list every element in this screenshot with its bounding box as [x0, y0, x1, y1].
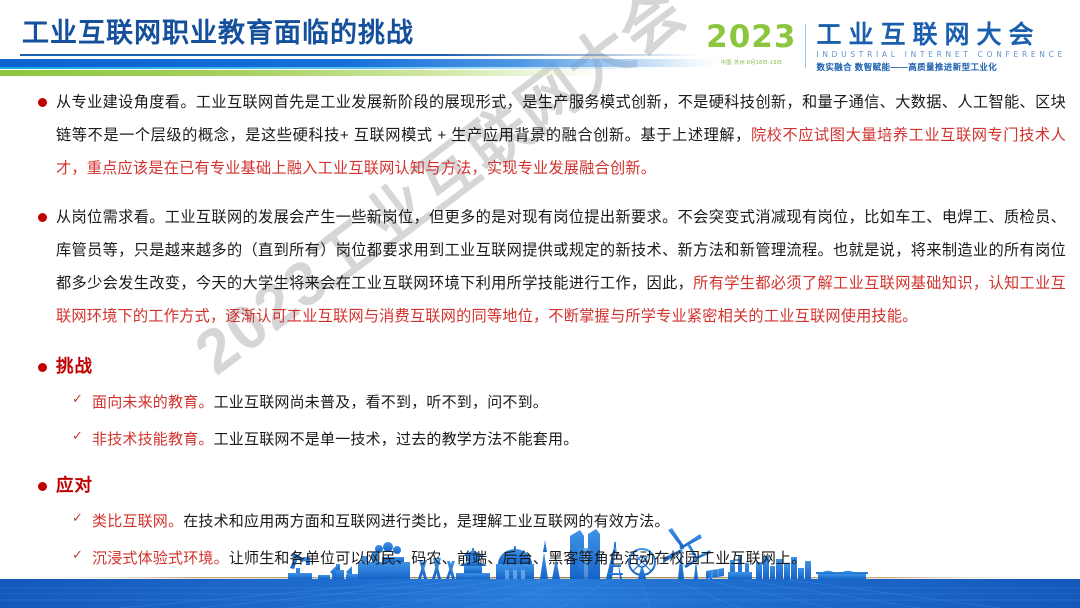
title-underline — [20, 54, 700, 56]
bullet-paragraph: 从专业建设角度看。工业互联网首先是工业发展新阶段的展现形式，是生产服务模式创新，… — [0, 86, 1080, 185]
header-divider-blue — [0, 59, 720, 67]
page-title: 工业互联网职业教育面临的挑战 — [22, 11, 414, 50]
logo-year-block: 2023 中国·苏州 8月18日-19日 — [706, 22, 805, 66]
list-item-rest: 工业互联网尚未普及，看不到，听不到，问不到。 — [214, 394, 548, 411]
section-heading-label: 应对 — [56, 475, 93, 495]
header-divider-cyan — [0, 67, 660, 69]
bullet-dot-icon — [38, 98, 47, 107]
bullet-dot-icon — [38, 482, 47, 491]
check-icon: ✓ — [72, 392, 83, 407]
bullet-dot-icon — [38, 213, 47, 222]
list-item-text: 非技术技能教育。工业互联网不是单一技术，过去的教学方法不能套用。 — [92, 431, 578, 448]
section-heading-label: 挑战 — [56, 356, 93, 376]
list-item-rest: 让师生和各单位可以网民、码农、前端、后台、黑客等角色活动在校园工业互联网上。 — [229, 550, 807, 567]
section-heading-responses: 应对 — [0, 472, 1080, 497]
check-icon: ✓ — [72, 511, 83, 526]
check-icon: ✓ — [72, 548, 83, 563]
list-item-lead: 非技术技能教育。 — [92, 431, 214, 448]
section-list-item: ✓ 类比互联网。在技术和应用两方面和互联网进行类比，是理解工业互联网的有效方法。 — [0, 510, 1080, 534]
list-item-text: 面向未来的教育。工业互联网尚未普及，看不到，听不到，问不到。 — [92, 394, 548, 411]
paragraph-text: 从岗位需求看。工业互联网的发展会产生一些新岗位，但更多的是对现有岗位提出新要求。… — [56, 201, 1066, 333]
header-divider-green — [0, 70, 600, 76]
logo-slogan: 数实融合 数智赋能——高质量推进新型工业化 — [816, 61, 1066, 73]
check-icon: ✓ — [72, 429, 83, 444]
slide-header: 工业互联网职业教育面临的挑战 2023 中国·苏州 8月18日-19日 工业互联… — [0, 0, 1080, 80]
logo-year: 2023 — [706, 22, 796, 53]
logo-name-en: INDUSTRIAL INTERNET CONFERENCE — [816, 50, 1066, 59]
list-item-text: 类比互联网。在技术和应用两方面和互联网进行类比，是理解工业互联网的有效方法。 — [92, 513, 670, 530]
section-list-item: ✓ 非技术技能教育。工业互联网不是单一技术，过去的教学方法不能套用。 — [0, 428, 1080, 452]
list-item-rest: 工业互联网不是单一技术，过去的教学方法不能套用。 — [214, 431, 579, 448]
logo-name-cn: 工业互联网大会 — [816, 22, 1066, 48]
logo-place-date: 中国·苏州 8月18日-19日 — [720, 58, 782, 66]
bullet-dot-icon — [38, 363, 47, 372]
paragraph-text: 从专业建设角度看。工业互联网首先是工业发展新阶段的展现形式，是生产服务模式创新，… — [56, 86, 1066, 185]
list-item-rest: 在技术和应用两方面和互联网进行类比，是理解工业互联网的有效方法。 — [183, 513, 669, 530]
logo-name-block: 工业互联网大会 INDUSTRIAL INTERNET CONFERENCE 数… — [806, 22, 1066, 73]
slide-body: 从专业建设角度看。工业互联网首先是工业发展新阶段的展现形式，是生产服务模式创新，… — [0, 86, 1080, 571]
section-list-item: ✓ 面向未来的教育。工业互联网尚未普及，看不到，听不到，问不到。 — [0, 391, 1080, 415]
bullet-paragraph: 从岗位需求看。工业互联网的发展会产生一些新岗位，但更多的是对现有岗位提出新要求。… — [0, 201, 1080, 333]
list-item-lead: 类比互联网。 — [92, 513, 183, 530]
section-heading-challenges: 挑战 — [0, 353, 1080, 378]
section-list-item: ✓ 沉浸式体验式环境。让师生和各单位可以网民、码农、前端、后台、黑客等角色活动在… — [0, 547, 1080, 571]
conference-logo: 2023 中国·苏州 8月18日-19日 工业互联网大会 INDUSTRIAL … — [706, 22, 1066, 78]
list-item-lead: 面向未来的教育。 — [92, 394, 214, 411]
list-item-text: 沉浸式体验式环境。让师生和各单位可以网民、码农、前端、后台、黑客等角色活动在校园… — [92, 550, 806, 567]
list-item-lead: 沉浸式体验式环境。 — [92, 550, 229, 567]
